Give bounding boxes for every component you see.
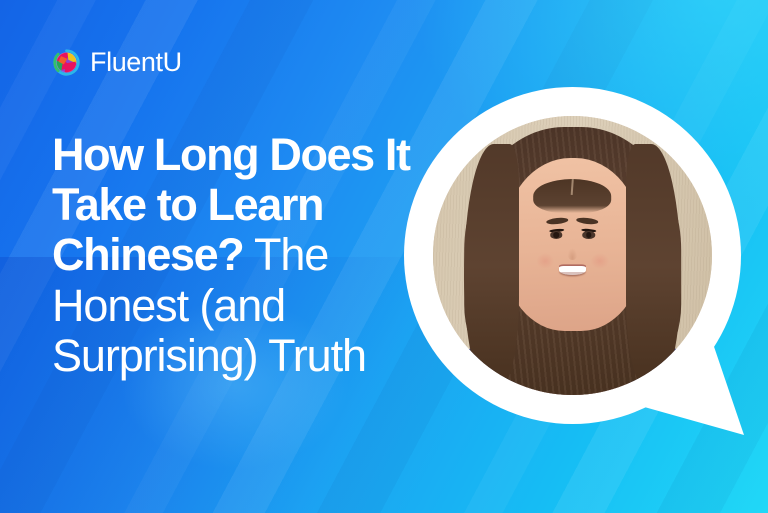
page-title: How Long Does It Take to Learn Chinese? … [52,130,422,381]
fluentu-globe-icon [52,48,81,77]
portrait-eye-left [550,231,563,239]
speech-bubble-portrait [404,87,741,424]
headline-bold-segment: How Long Does It Take to Learn Chinese? [52,129,410,280]
portrait-face [503,158,643,331]
portrait-eye-right [582,231,595,239]
portrait-eyebrow-left [546,217,569,225]
fluentu-wordmark: FluentU [90,49,182,76]
portrait-cheek-right [591,253,609,269]
portrait-eyebrow-right [576,217,599,225]
portrait-hair-front-left [464,144,520,390]
portrait-smile [559,266,586,275]
author-portrait-photo [433,116,712,395]
portrait-nose [568,248,578,260]
fluentu-logo[interactable]: FluentU [52,48,182,77]
article-hero-banner: FluentU How Long Does It Take to Learn C… [0,0,768,513]
portrait-cheek-left [536,253,554,269]
